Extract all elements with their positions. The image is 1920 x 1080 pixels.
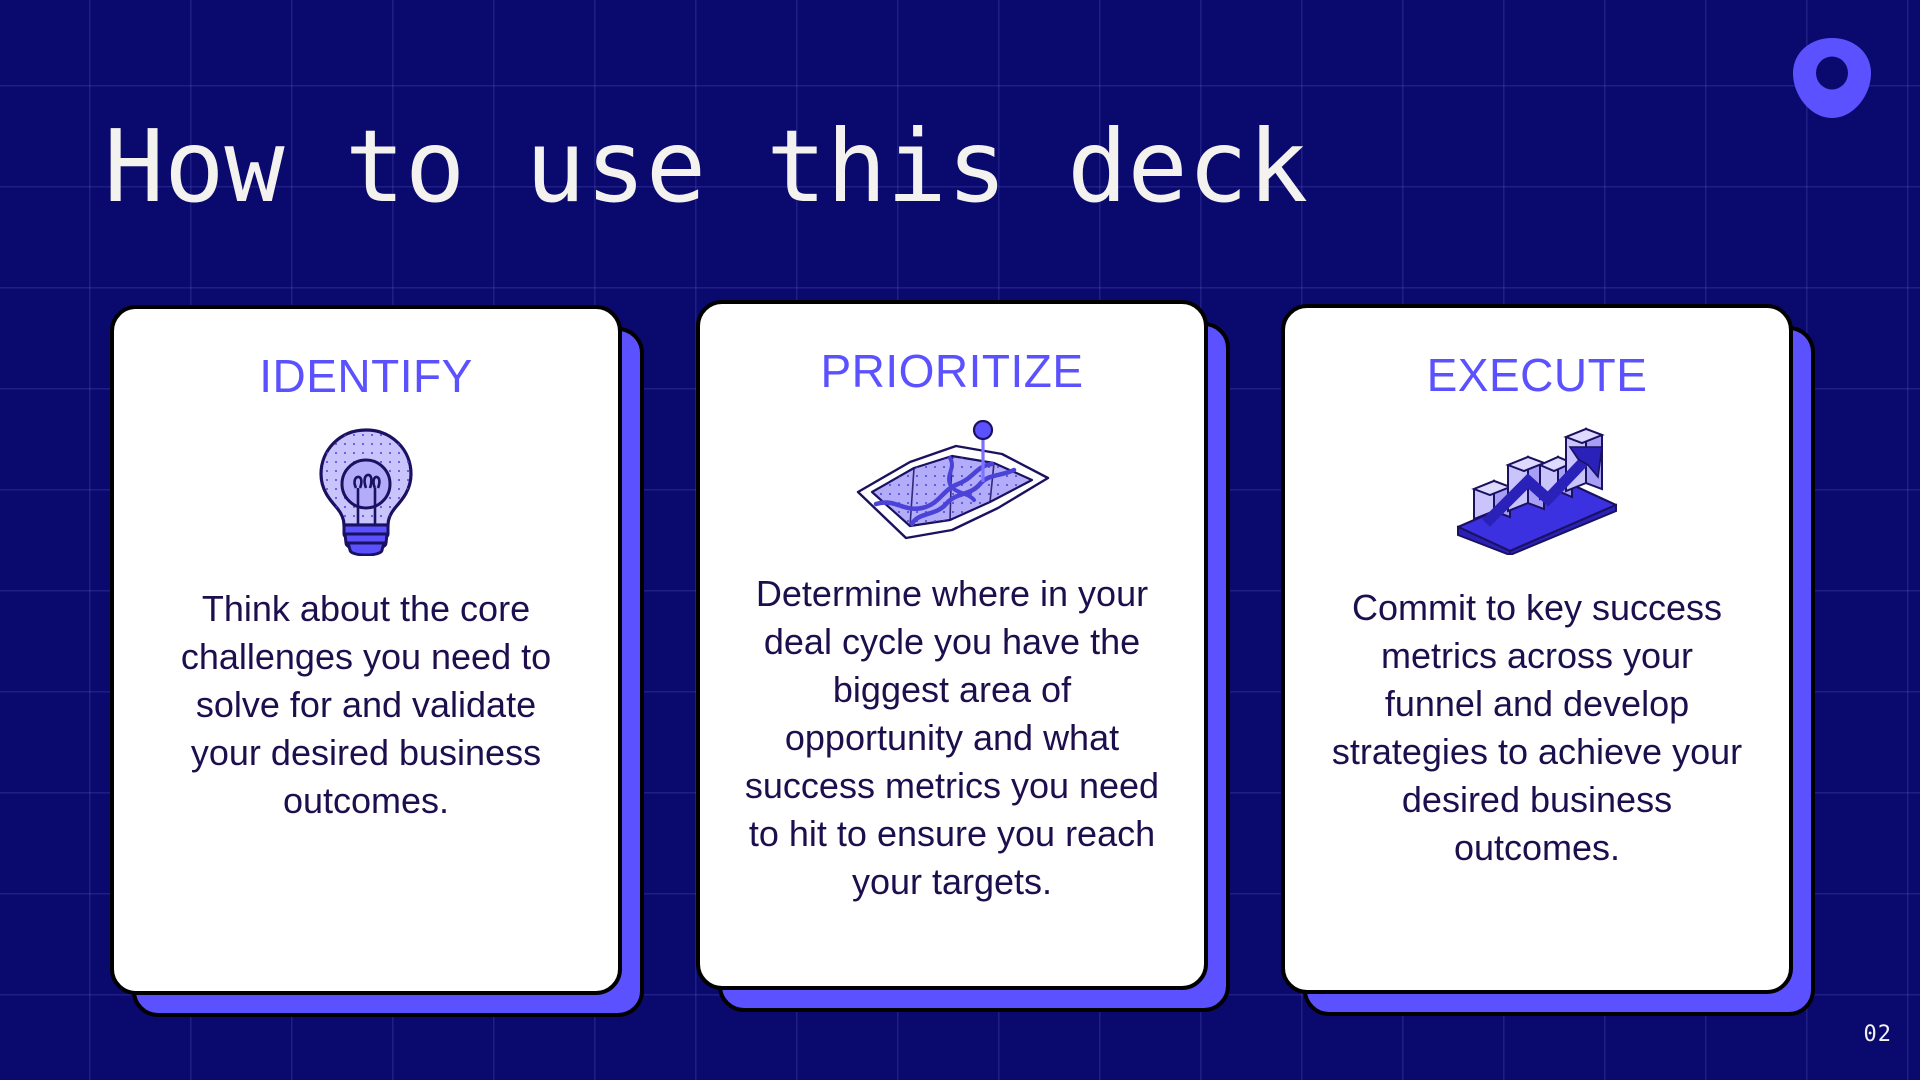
card-execute[interactable]: EXECUTE <box>1281 304 1793 994</box>
card-body-text: Think about the core challenges you need… <box>156 585 576 825</box>
card-body-text: Determine where in your deal cycle you h… <box>742 570 1162 906</box>
card-title: IDENTIFY <box>259 349 473 403</box>
bar-chart-growth-arrow-icon <box>1452 424 1622 554</box>
card-title: EXECUTE <box>1427 348 1648 402</box>
page-title: How to use this deck <box>104 112 1308 222</box>
cards-row: IDENTIFY <box>0 305 1920 1005</box>
page-number: 02 <box>1864 1022 1893 1048</box>
folded-map-with-pin-icon <box>852 420 1052 550</box>
card-face: PRIORITIZE <box>696 300 1208 990</box>
card-face: EXECUTE <box>1281 304 1793 994</box>
card-body-text: Commit to key success metrics across you… <box>1327 584 1747 872</box>
slide-root: How to use this deck IDENTIFY <box>0 0 1920 1080</box>
lightbulb-icon <box>307 425 425 555</box>
company-logo-blob-icon <box>1791 36 1873 120</box>
card-face: IDENTIFY <box>110 305 622 995</box>
card-title: PRIORITIZE <box>820 344 1083 398</box>
card-identify[interactable]: IDENTIFY <box>110 305 622 995</box>
card-prioritize[interactable]: PRIORITIZE <box>696 300 1208 990</box>
